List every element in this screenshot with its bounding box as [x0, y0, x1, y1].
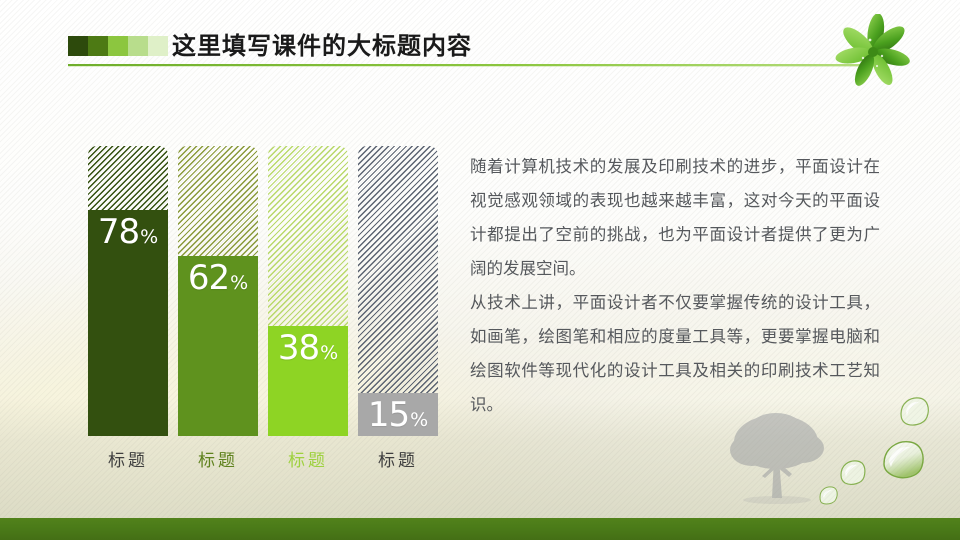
- leaf-cluster-icon: [828, 14, 918, 86]
- water-drop-large-icon: [880, 438, 926, 480]
- bar-fill-3: 38%: [268, 326, 348, 436]
- swatch-row: [68, 36, 168, 56]
- swatch-3: [108, 36, 128, 56]
- bar-label-2: 标题: [178, 446, 258, 471]
- bar-label-3: 标题: [268, 446, 348, 471]
- swatch-5: [148, 36, 168, 56]
- body-paragraph-1: 随着计算机技术的发展及印刷技术的进步，平面设计在视觉感观领域的表现也越来越丰富，…: [470, 150, 880, 286]
- bar-chart: 78% 62% 38%: [88, 146, 438, 476]
- bar-column-2[interactable]: 62%: [178, 146, 258, 436]
- bar-label-4: 标题: [358, 446, 438, 471]
- bar-column-3[interactable]: 38%: [268, 146, 348, 436]
- bar-value-4: 15%: [368, 397, 428, 437]
- water-drop-medium-icon: [838, 458, 868, 486]
- water-drop-small-icon: [898, 395, 932, 427]
- swatch-1: [68, 36, 88, 56]
- bar-value-3: 38%: [278, 330, 338, 371]
- bar-fill-1: 78%: [88, 210, 168, 436]
- bar-column-1[interactable]: 78%: [88, 146, 168, 436]
- body-text-block: 随着计算机技术的发展及印刷技术的进步，平面设计在视觉感观领域的表现也越来越丰富，…: [470, 150, 880, 422]
- swatch-2: [88, 36, 108, 56]
- slide: 这里填写课件的大标题内容: [0, 0, 960, 540]
- bar-label-1: 标题: [88, 446, 168, 471]
- bar-label-row: 标题 标题 标题 标题: [88, 446, 438, 471]
- bar-value-2: 62%: [188, 260, 248, 301]
- title-underline-shadow: [68, 66, 872, 67]
- footer-bar: [0, 518, 960, 540]
- bar-fill-4: 15%: [358, 393, 438, 437]
- bar-track-2: 62%: [178, 146, 258, 436]
- water-drop-tiny-icon: [818, 485, 840, 506]
- bar-group: 78% 62% 38%: [88, 146, 438, 436]
- swatch-4: [128, 36, 148, 56]
- body-paragraph-2: 从技术上讲，平面设计者不仅要掌握传统的设计工具，如画笔，绘图笔和相应的度量工具等…: [470, 286, 880, 422]
- bar-track-3: 38%: [268, 146, 348, 436]
- page-title: 这里填写课件的大标题内容: [172, 26, 472, 61]
- slide-header: 这里填写课件的大标题内容: [0, 0, 960, 80]
- bar-track-1: 78%: [88, 146, 168, 436]
- bar-value-1: 78%: [98, 214, 158, 255]
- bar-column-4[interactable]: 15%: [358, 146, 438, 436]
- bar-fill-2: 62%: [178, 256, 258, 436]
- bar-track-4: 15%: [358, 146, 438, 436]
